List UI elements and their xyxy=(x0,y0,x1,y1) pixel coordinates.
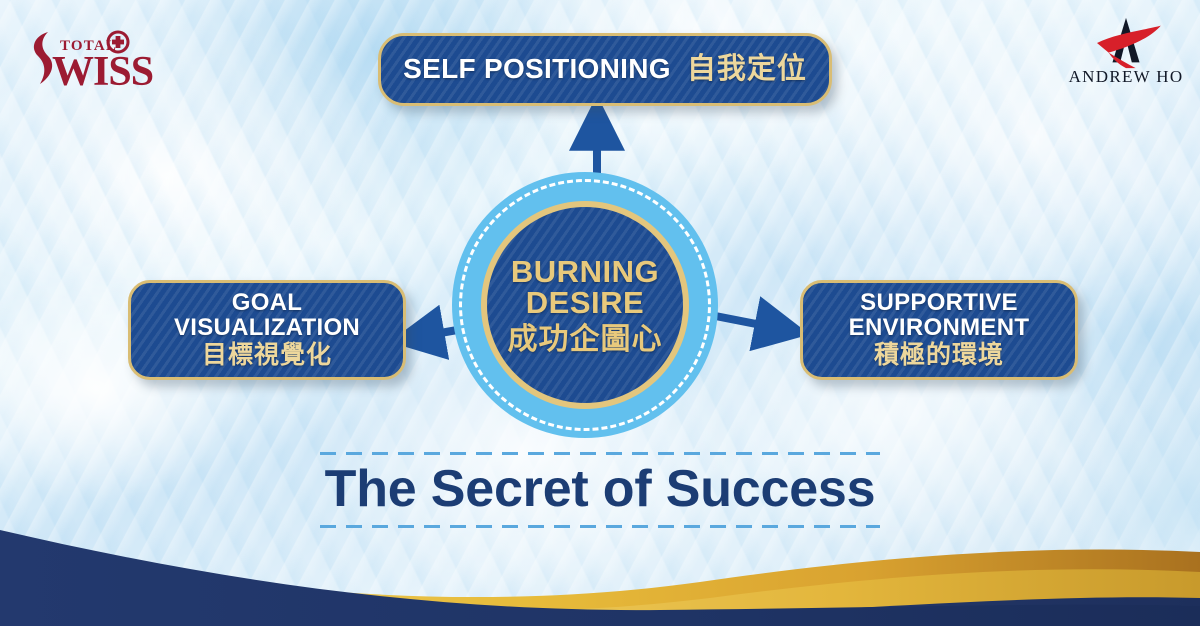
hub-label-zh: 成功企圖心 xyxy=(508,325,663,355)
stylized-a-mark-icon xyxy=(1066,14,1186,72)
svg-text:WISS: WISS xyxy=(52,49,153,94)
hub-label-en-line1: BURNING xyxy=(511,256,659,287)
node-goal-visualization-label-zh: 目標視覺化 xyxy=(202,343,332,369)
node-supportive-environment[interactable]: SUPPORTIVE ENVIRONMENT 積極的環境 xyxy=(800,280,1078,380)
node-supportive-environment-label-en-line2: ENVIRONMENT xyxy=(849,316,1030,340)
node-self-positioning-label-zh: 自我定位 xyxy=(687,55,807,85)
slide-canvas: TOTAL WISS TOTAL WISS ANDREW HO xyxy=(0,0,1200,626)
andrew-ho-logo[interactable]: ANDREW HO xyxy=(1066,14,1186,100)
node-supportive-environment-label-zh: 積極的環境 xyxy=(874,343,1004,369)
andrew-ho-label: ANDREW HO xyxy=(1066,67,1186,87)
total-swiss-logo[interactable]: TOTAL WISS TOTAL WISS xyxy=(18,22,158,94)
node-goal-visualization[interactable]: GOAL VISUALIZATION 目標視覺化 xyxy=(128,280,406,380)
node-self-positioning-label-en: SELF POSITIONING xyxy=(403,55,671,84)
node-goal-visualization-label-en-line1: GOAL xyxy=(232,291,303,315)
node-supportive-environment-label-en-line1: SUPPORTIVE xyxy=(860,291,1018,315)
node-goal-visualization-label-en-line2: VISUALIZATION xyxy=(174,316,360,340)
hub-core: BURNING DESIRE 成功企圖心 xyxy=(487,207,683,403)
hub-label-en-line2: DESIRE xyxy=(526,287,644,318)
center-hub[interactable]: BURNING DESIRE 成功企圖心 xyxy=(452,172,718,438)
node-self-positioning[interactable]: SELF POSITIONING 自我定位 xyxy=(378,33,832,106)
footer-wave-decoration xyxy=(0,506,1200,626)
